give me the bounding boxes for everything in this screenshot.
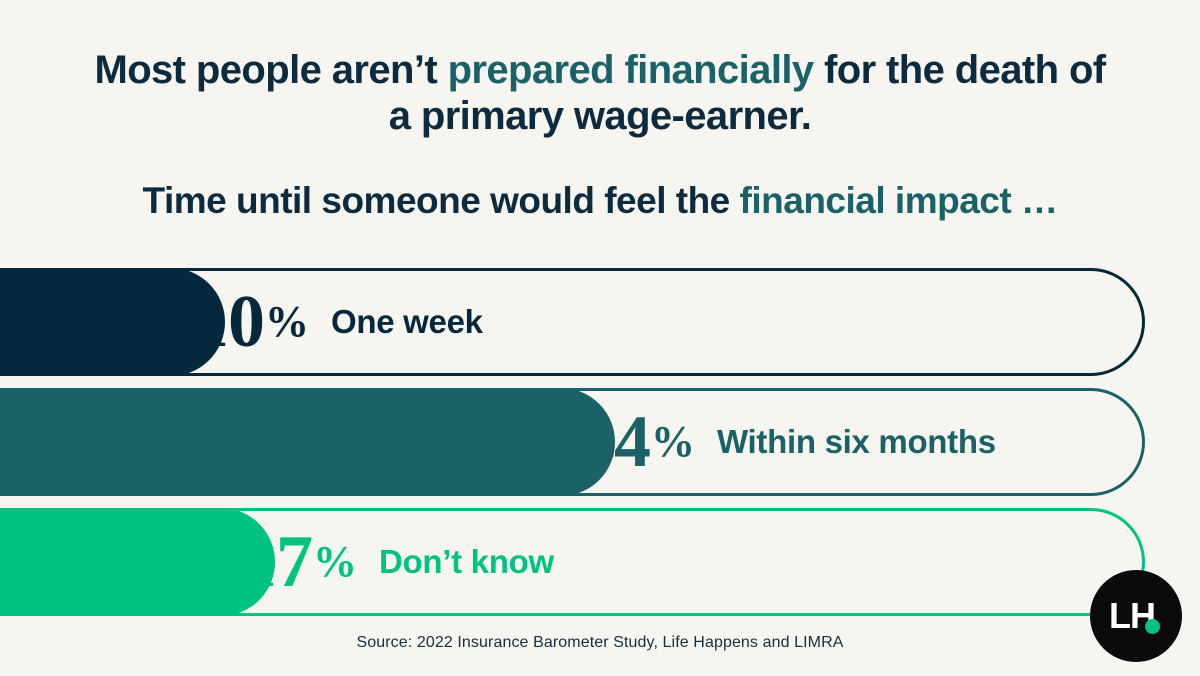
percent-sign: % — [651, 420, 695, 464]
headline-accent: prepared financially — [448, 48, 814, 92]
page-title: Most people aren’t prepared financially … — [0, 48, 1200, 139]
bar-row-dont-know: 17 % Don’t know — [0, 508, 1145, 616]
bar-value-group: 10 % One week — [192, 268, 483, 376]
logo-dot-icon — [1145, 619, 1160, 634]
bar-value-group: 17 % Don’t know — [240, 508, 554, 616]
subtitle: Time until someone would feel the financ… — [0, 180, 1200, 222]
bar-value: 10 — [192, 285, 264, 359]
subtitle-accent: financial impact … — [740, 180, 1058, 221]
bar-category-label: Don’t know — [379, 543, 554, 581]
bar-row-within-six-months: 44 % Within six months — [0, 388, 1145, 496]
source-note: Source: 2022 Insurance Barometer Study, … — [0, 634, 1200, 652]
headline-part-1: Most people aren’t — [94, 48, 447, 92]
bar-value: 17 — [240, 525, 312, 599]
percent-sign: % — [313, 540, 357, 584]
life-happens-logo: LH — [1090, 570, 1182, 662]
headline-block: Most people aren’t prepared financially … — [0, 48, 1200, 139]
bar-value: 44 — [578, 405, 650, 479]
subtitle-part-1: Time until someone would feel the — [143, 180, 740, 221]
bar-category-label: Within six months — [717, 423, 996, 461]
bar-chart: 10 % One week 44 % Within six months 17 … — [0, 268, 1145, 628]
bar-fill — [0, 388, 615, 496]
bar-fill — [0, 508, 275, 616]
bar-value-group: 44 % Within six months — [578, 388, 996, 496]
bar-category-label: One week — [331, 303, 483, 341]
bar-row-one-week: 10 % One week — [0, 268, 1145, 376]
percent-sign: % — [265, 300, 309, 344]
